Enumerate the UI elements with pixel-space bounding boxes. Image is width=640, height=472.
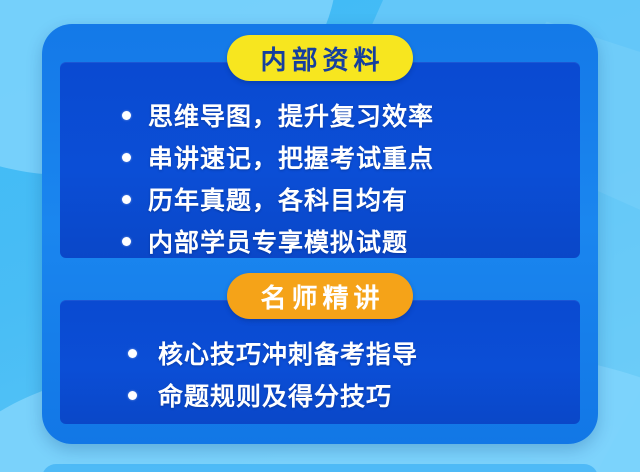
list-expert-lectures: 核心技巧冲刺备考指导 命题规则及得分技巧 bbox=[42, 332, 598, 416]
bullet-dot-icon bbox=[122, 153, 131, 162]
bullet-dot-icon bbox=[122, 237, 131, 246]
bullet-dot-icon bbox=[122, 111, 131, 120]
list-item: 串讲速记，把握考试重点 bbox=[42, 136, 598, 178]
promo-poster: 内部资料 思维导图，提升复习效率 串讲速记，把握考试重点 历年真题，各科目均有 … bbox=[0, 0, 640, 472]
list-item: 思维导图，提升复习效率 bbox=[42, 94, 598, 136]
content-card: 内部资料 思维导图，提升复习效率 串讲速记，把握考试重点 历年真题，各科目均有 … bbox=[42, 24, 598, 444]
list-item: 核心技巧冲刺备考指导 bbox=[42, 332, 598, 374]
section-badge-internal-materials: 内部资料 bbox=[227, 35, 413, 81]
bullet-dot-icon bbox=[128, 391, 137, 400]
list-item-label: 串讲速记，把握考试重点 bbox=[148, 139, 434, 175]
bullet-dot-icon bbox=[122, 195, 131, 204]
list-item-label: 历年真题，各科目均有 bbox=[148, 181, 408, 217]
list-internal-materials: 思维导图，提升复习效率 串讲速记，把握考试重点 历年真题，各科目均有 内部学员专… bbox=[42, 94, 598, 262]
list-item-label: 内部学员专享模拟试题 bbox=[148, 223, 408, 259]
bullet-dot-icon bbox=[128, 349, 137, 358]
section-badge-expert-lectures: 名师精讲 bbox=[227, 273, 413, 319]
list-item: 历年真题，各科目均有 bbox=[42, 178, 598, 220]
list-item-label: 思维导图，提升复习效率 bbox=[148, 97, 434, 133]
list-item-label: 核心技巧冲刺备考指导 bbox=[158, 335, 418, 371]
list-item-label: 命题规则及得分技巧 bbox=[158, 377, 392, 413]
list-item: 内部学员专享模拟试题 bbox=[42, 220, 598, 262]
next-card-edge bbox=[42, 464, 598, 472]
list-item: 命题规则及得分技巧 bbox=[42, 374, 598, 416]
